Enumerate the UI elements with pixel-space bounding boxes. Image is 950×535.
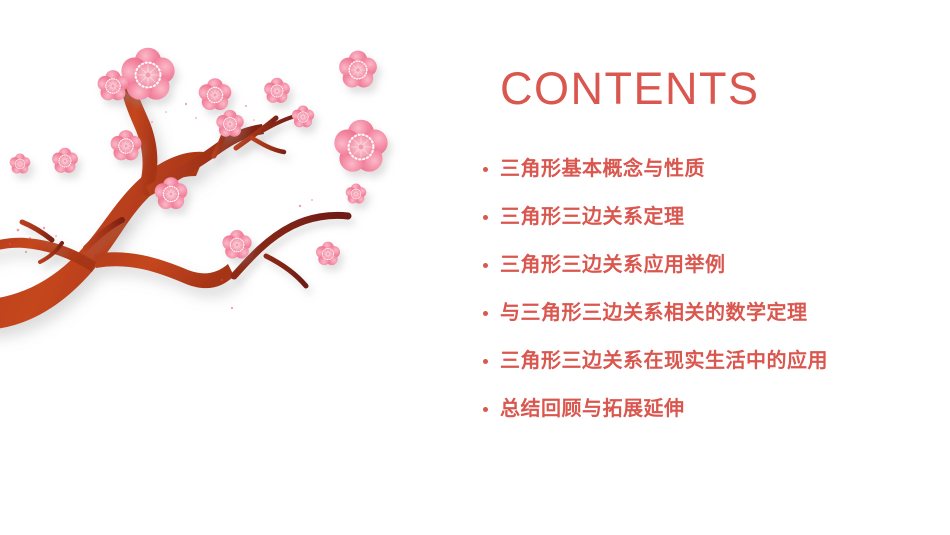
list-item[interactable]: 三角形三边关系定理 — [478, 200, 878, 235]
list-item-label: 三角形三边关系应用举例 — [500, 248, 840, 283]
list-item-label: 三角形基本概念与性质 — [500, 152, 840, 187]
bullet-icon — [483, 359, 488, 364]
list-item[interactable]: 三角形三边关系在现实生活中的应用 — [478, 344, 878, 379]
plum-blossom-branch-illustration — [0, 0, 440, 400]
bullet-icon — [483, 263, 488, 268]
list-item[interactable]: 三角形三边关系应用举例 — [478, 248, 878, 283]
contents-panel: CONTENTS 三角形基本概念与性质 三角形三边关系定理 三角形三边关系应用举… — [470, 0, 890, 535]
bullet-icon — [483, 215, 488, 220]
list-item-label: 与三角形三边关系相关的数学定理 — [500, 296, 840, 331]
bullet-icon — [483, 167, 488, 172]
bullet-icon — [483, 311, 488, 316]
bullet-icon — [483, 407, 488, 412]
page-title: CONTENTS — [500, 66, 760, 111]
table-of-contents-list: 三角形基本概念与性质 三角形三边关系定理 三角形三边关系应用举例 与三角形三边关… — [478, 152, 878, 440]
list-item-label: 三角形三边关系在现实生活中的应用 — [500, 344, 840, 379]
list-item[interactable]: 与三角形三边关系相关的数学定理 — [478, 296, 878, 331]
list-item-label: 三角形三边关系定理 — [500, 200, 840, 235]
list-item[interactable]: 总结回顾与拓展延伸 — [478, 392, 878, 427]
list-item-label: 总结回顾与拓展延伸 — [500, 392, 840, 427]
contents-slide: CONTENTS 三角形基本概念与性质 三角形三边关系定理 三角形三边关系应用举… — [0, 0, 950, 535]
list-item[interactable]: 三角形基本概念与性质 — [478, 152, 878, 187]
